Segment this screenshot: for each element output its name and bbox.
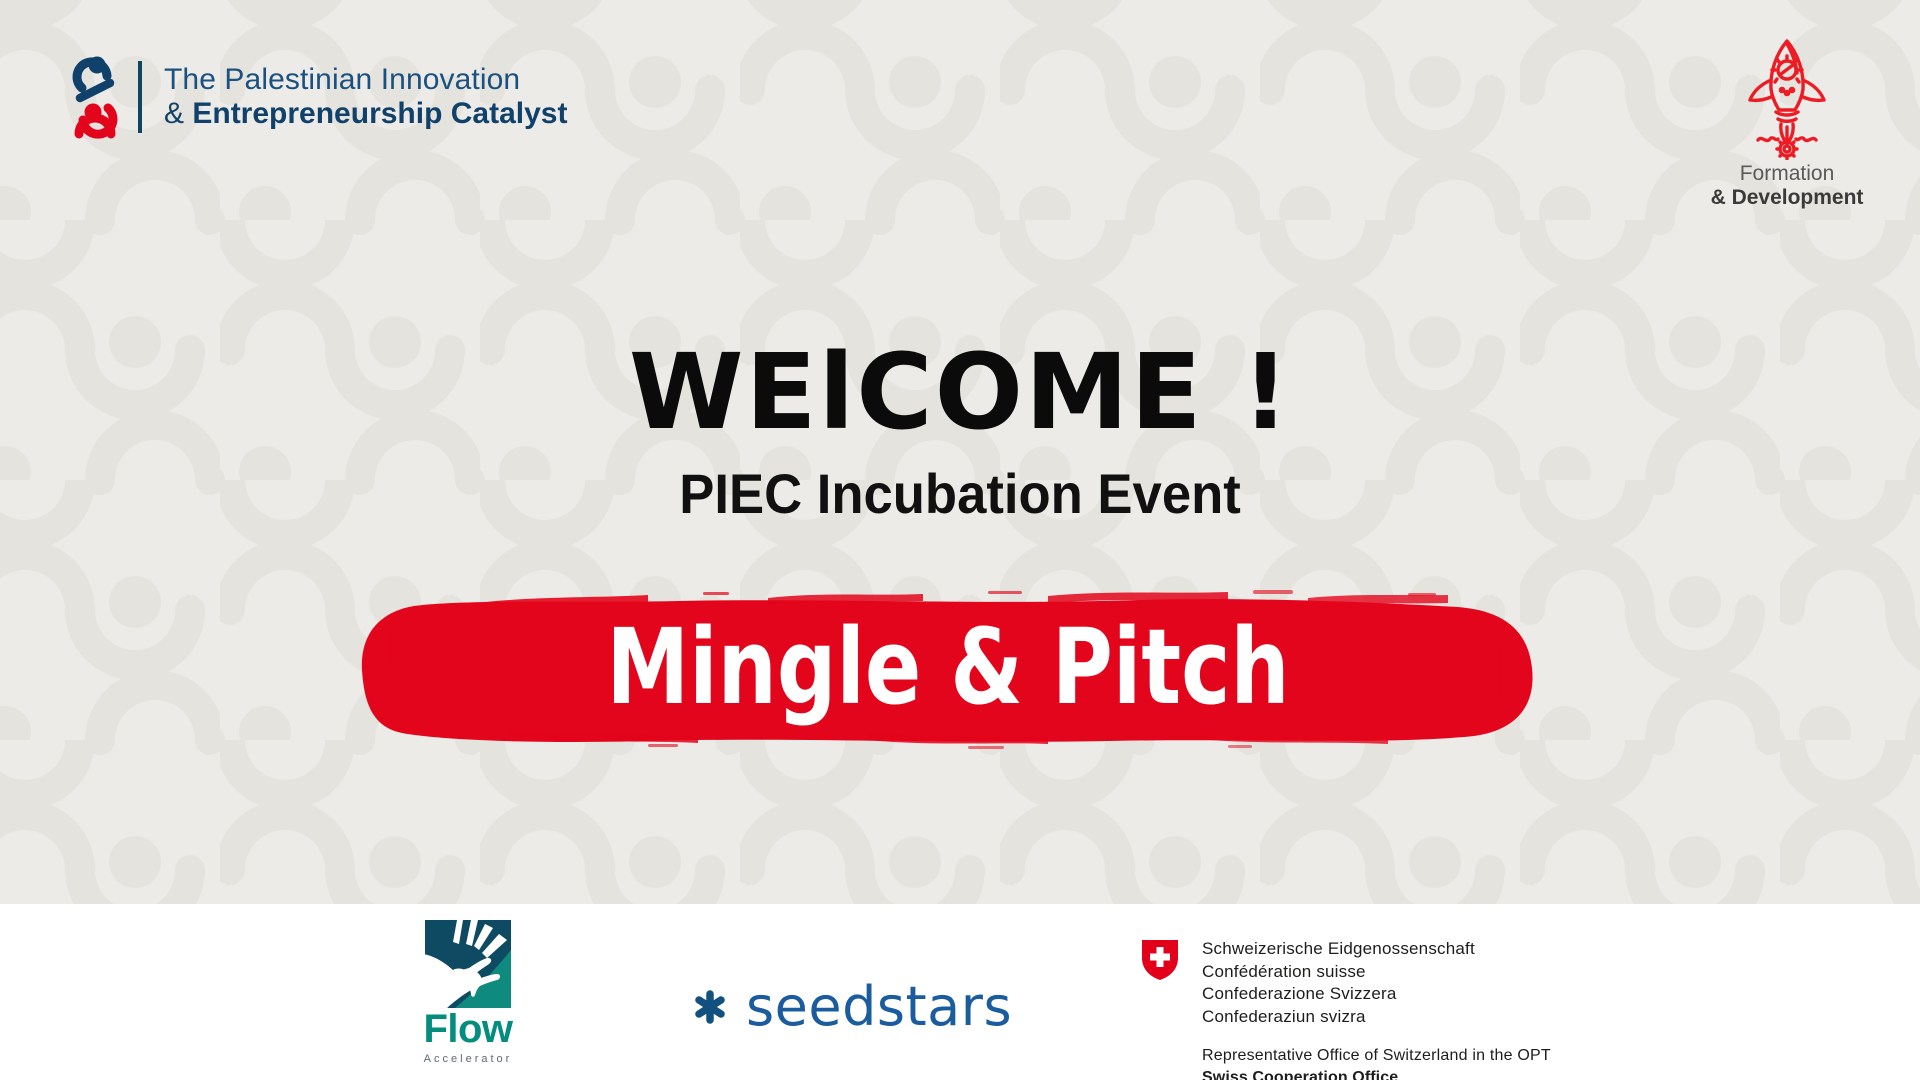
partner-logo-flow-accelerator: Flow Accelerator bbox=[420, 920, 516, 1065]
flow-wordmark: Flow bbox=[423, 1009, 512, 1049]
flow-subtitle: Accelerator bbox=[424, 1054, 513, 1065]
swiss-lang-de: Schweizerische Eidgenossenschaft bbox=[1202, 938, 1551, 961]
development-label: & Development bbox=[1711, 186, 1864, 210]
partner-logo-swiss-confederation: Schweizerische Eidgenossenschaft Confédé… bbox=[1142, 938, 1551, 1080]
piec-logo: The Palestinian Innovation & Entrepreneu… bbox=[66, 54, 567, 140]
piec-tagline-bold: Entrepreneurship Catalyst bbox=[192, 97, 567, 130]
rocket-gear-icon bbox=[1728, 32, 1846, 160]
partner-logo-seedstars: seedstars bbox=[690, 980, 1012, 1034]
swiss-text-block: Schweizerische Eidgenossenschaft Confédé… bbox=[1202, 938, 1551, 1080]
piec-figure-mark-icon bbox=[66, 54, 124, 140]
seedstars-wordmark: seedstars bbox=[746, 980, 1012, 1034]
mingle-and-pitch-banner: Mingle & Pitch bbox=[348, 586, 1548, 752]
presentation-slide: The Palestinian Innovation & Entrepreneu… bbox=[0, 0, 1920, 1080]
formation-development-logo: Formation & Development bbox=[1712, 32, 1862, 211]
hands-square-icon bbox=[425, 920, 511, 1008]
headline-block: WElCOME ! PIEC Incubation Event bbox=[0, 340, 1920, 522]
logo-divider bbox=[138, 61, 142, 133]
piec-tagline-line2: & Entrepreneurship Catalyst bbox=[164, 97, 567, 131]
asterisk-icon bbox=[690, 987, 730, 1027]
swiss-lang-rm: Confederaziun svizra bbox=[1202, 1006, 1551, 1029]
swiss-office-line2: Swiss Cooperation Office bbox=[1202, 1067, 1551, 1080]
piec-tagline-line1: The Palestinian Innovation bbox=[164, 63, 567, 97]
swiss-language-lines: Schweizerische Eidgenossenschaft Confédé… bbox=[1202, 938, 1551, 1028]
banner-label: Mingle & Pitch bbox=[468, 584, 1428, 750]
swiss-lang-it: Confederazione Svizzera bbox=[1202, 983, 1551, 1006]
swiss-office-line1: Representative Office of Switzerland in … bbox=[1202, 1045, 1551, 1066]
piec-tagline-ampersand: & bbox=[164, 97, 192, 130]
swiss-shield-icon bbox=[1142, 940, 1178, 980]
swiss-office-block: Representative Office of Switzerland in … bbox=[1202, 1045, 1551, 1080]
event-subtitle: PIEC Incubation Event bbox=[58, 466, 1863, 522]
swiss-lang-fr: Confédération suisse bbox=[1202, 961, 1551, 984]
formation-development-wordmark: Formation & Development bbox=[1711, 162, 1864, 211]
formation-label: Formation bbox=[1711, 162, 1864, 186]
welcome-title: WElCOME ! bbox=[0, 340, 1920, 444]
piec-wordmark: The Palestinian Innovation & Entrepreneu… bbox=[156, 63, 567, 130]
